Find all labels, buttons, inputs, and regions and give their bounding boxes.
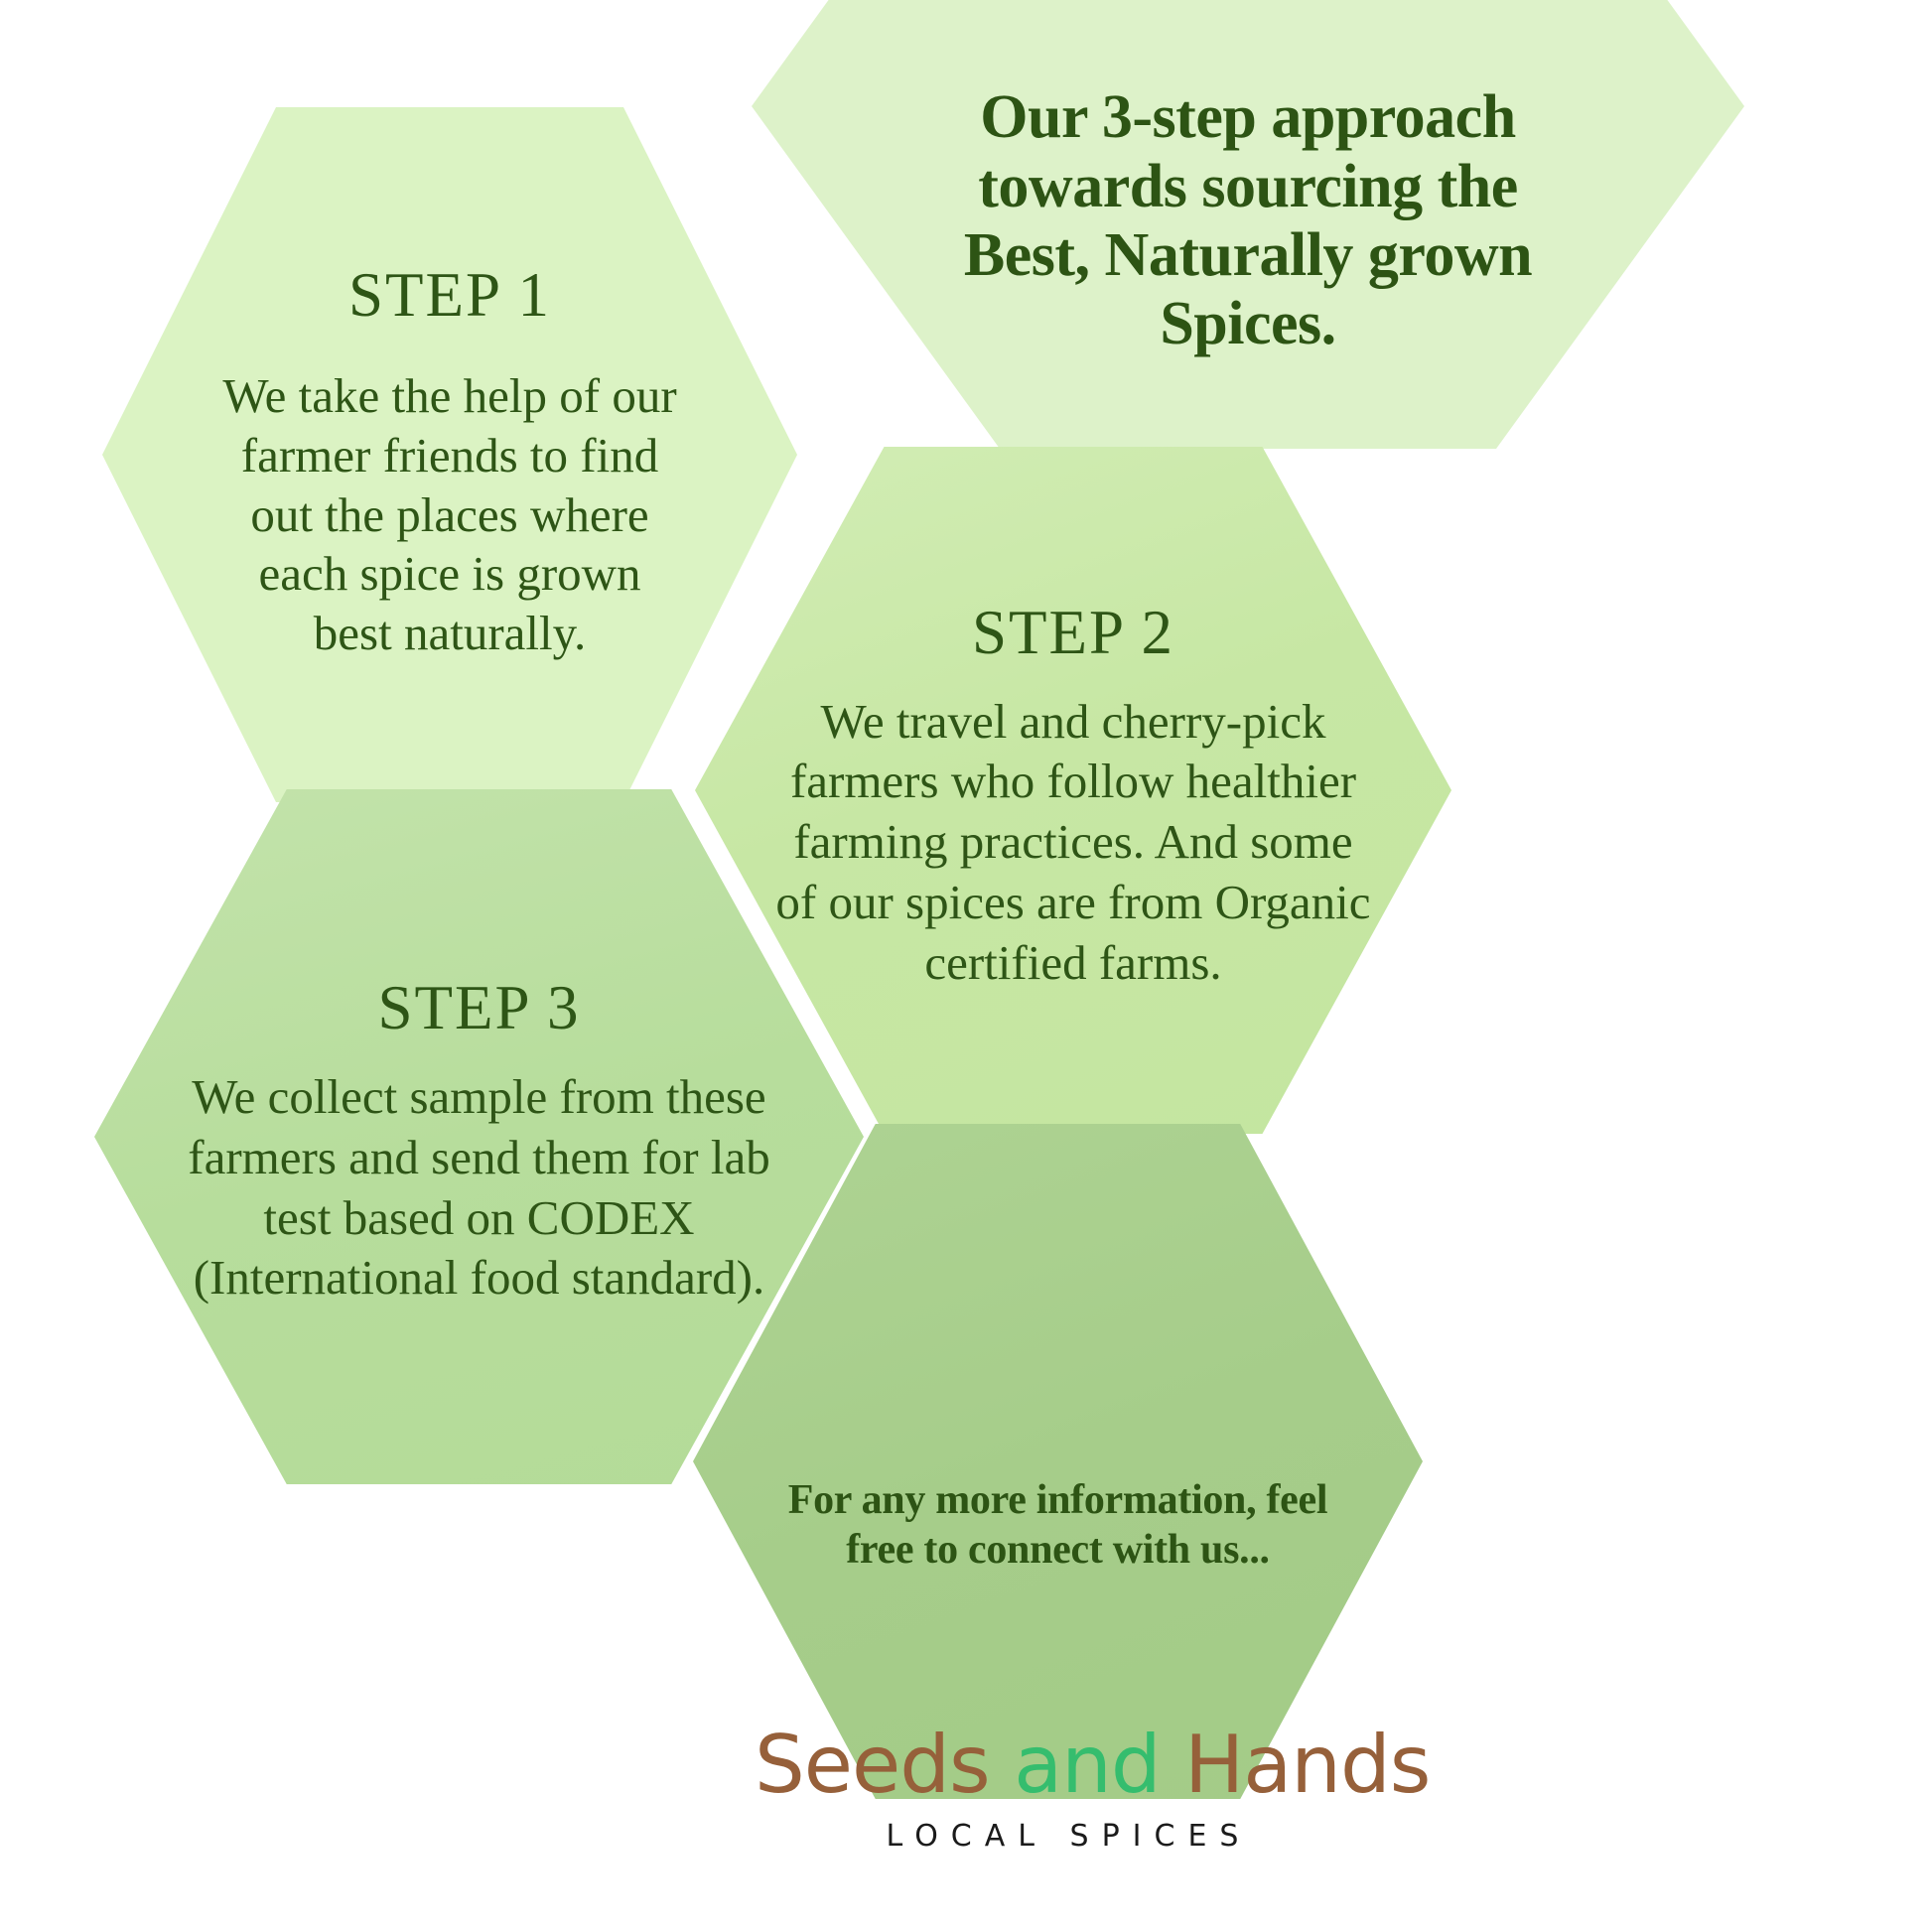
step-1-inner: STEP 1 We take the help of our farmer fr…	[220, 246, 679, 663]
step-2-heading: STEP 2	[770, 602, 1376, 664]
step-1-body: We take the help of our farmer friends t…	[220, 366, 679, 663]
title-hexagon: Our 3-step approach towards sourcing the…	[752, 0, 1744, 449]
step-3-heading: STEP 3	[172, 977, 787, 1039]
logo-word-and: and	[1014, 1719, 1161, 1811]
title-hexagon-inner: Our 3-step approach towards sourcing the…	[940, 0, 1556, 359]
logo-word-seeds: Seeds	[755, 1719, 1014, 1811]
step-3-body: We collect sample from these farmers and…	[172, 1067, 787, 1309]
contact-hexagon-inner: For any more information, feel free to c…	[773, 1348, 1342, 1576]
step-2-hexagon: STEP 2 We travel and cherry-pick farmers…	[695, 447, 1451, 1134]
step-1-heading: STEP 1	[220, 264, 679, 327]
step-1-hexagon: STEP 1 We take the help of our farmer fr…	[102, 107, 797, 802]
step-2-body: We travel and cherry-pick farmers who fo…	[770, 692, 1376, 994]
infographic-canvas: Our 3-step approach towards sourcing the…	[0, 0, 1932, 1932]
contact-text: For any more information, feel free to c…	[773, 1475, 1342, 1576]
logo-wordmark: Seeds and Hands	[755, 1725, 1370, 1805]
step-2-inner: STEP 2 We travel and cherry-pick farmers…	[770, 588, 1376, 994]
page-title: Our 3-step approach towards sourcing the…	[940, 83, 1556, 359]
logo-tagline: LOCAL SPICES	[755, 1819, 1370, 1854]
step-3-inner: STEP 3 We collect sample from these farm…	[172, 965, 787, 1309]
logo-word-hands: Hands	[1161, 1719, 1431, 1811]
brand-logo: Seeds and Hands LOCAL SPICES	[755, 1725, 1370, 1854]
